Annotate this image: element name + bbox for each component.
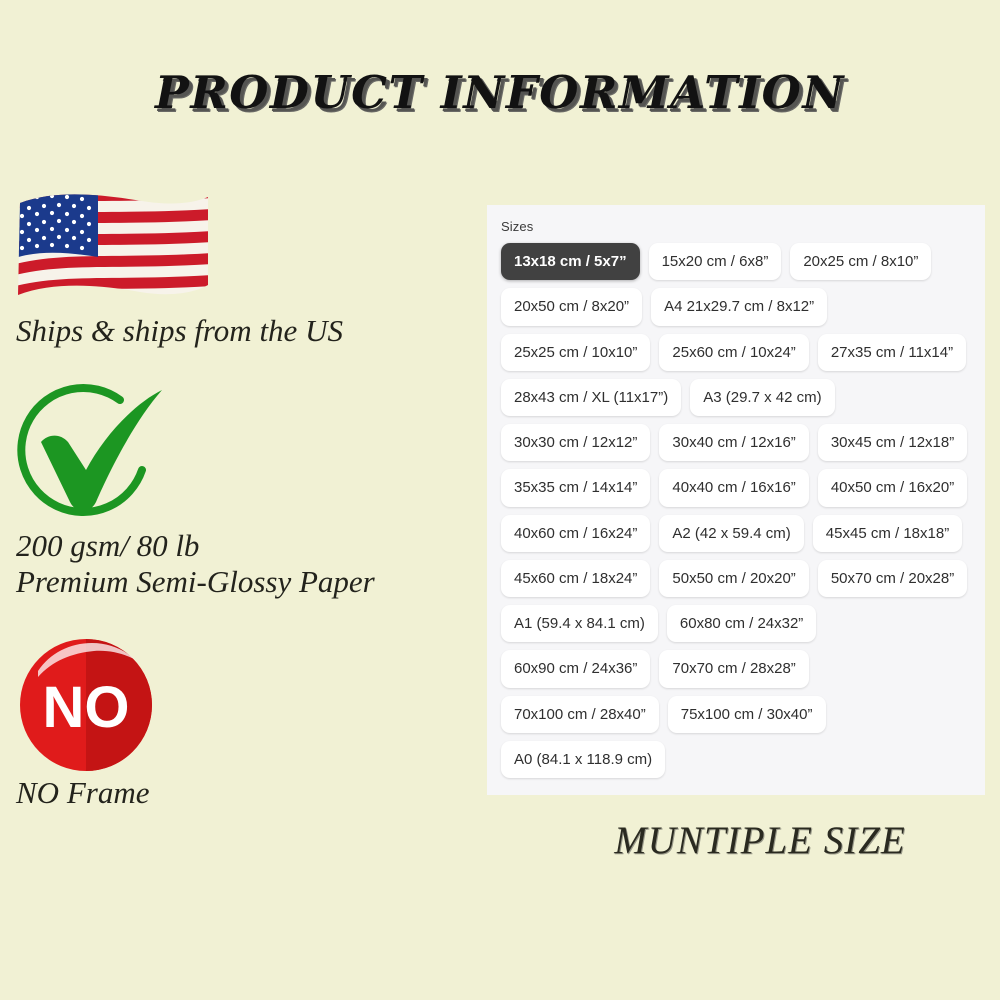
green-check-icon: [0, 378, 180, 528]
size-option-chip[interactable]: 70x70 cm / 28x28”: [659, 650, 808, 687]
us-flag-icon: [0, 185, 214, 313]
size-option-chip[interactable]: 35x35 cm / 14x14”: [501, 469, 650, 506]
size-option-chip[interactable]: 30x40 cm / 12x16”: [659, 424, 808, 461]
size-option-chip[interactable]: 20x50 cm / 8x20”: [501, 288, 642, 325]
size-option-chip[interactable]: 27x35 cm / 11x14”: [818, 334, 966, 371]
size-option-chip[interactable]: A3 (29.7 x 42 cm): [690, 379, 834, 416]
size-option-chip[interactable]: A1 (59.4 x 84.1 cm): [501, 605, 658, 642]
no-badge-text: NO: [43, 675, 130, 740]
size-option-chip[interactable]: 40x40 cm / 16x16”: [659, 469, 808, 506]
size-option-chip[interactable]: 13x18 cm / 5x7”: [501, 243, 640, 280]
feature-caption-paper: 200 gsm/ 80 lb Premium Semi-Glossy Paper: [0, 528, 470, 601]
size-option-chip[interactable]: 75x100 cm / 30x40”: [668, 696, 826, 733]
sizes-label: Sizes: [501, 219, 973, 234]
size-option-chip[interactable]: 25x25 cm / 10x10”: [501, 334, 650, 371]
size-option-chip[interactable]: 30x45 cm / 12x18”: [818, 424, 967, 461]
paper-weight-line: 200 gsm/ 80 lb: [16, 528, 470, 565]
size-option-chip[interactable]: 60x90 cm / 24x36”: [501, 650, 650, 687]
paper-type-line: Premium Semi-Glossy Paper: [16, 564, 470, 601]
size-option-chip[interactable]: 45x45 cm / 18x18”: [813, 515, 962, 552]
size-option-chip[interactable]: 60x80 cm / 24x32”: [667, 605, 816, 642]
size-option-chip[interactable]: 70x100 cm / 28x40”: [501, 696, 659, 733]
size-option-chip[interactable]: 50x70 cm / 20x28”: [818, 560, 967, 597]
size-option-chip[interactable]: A0 (84.1 x 118.9 cm): [501, 741, 665, 778]
size-option-chip[interactable]: 45x60 cm / 18x24”: [501, 560, 650, 597]
size-options-list: 13x18 cm / 5x7”15x20 cm / 6x8”20x25 cm /…: [501, 243, 973, 778]
multiple-size-caption: MUNTIPLE SIZE: [560, 818, 960, 863]
size-option-chip[interactable]: 30x30 cm / 12x12”: [501, 424, 650, 461]
feature-paper-quality: 200 gsm/ 80 lb Premium Semi-Glossy Paper: [0, 378, 470, 601]
no-badge-icon: NO: [0, 635, 160, 775]
size-option-chip[interactable]: 40x60 cm / 16x24”: [501, 515, 650, 552]
features-column: Ships & ships from the US 200 gsm/ 80 lb…: [0, 185, 470, 819]
page-title: PRODUCT INFORMATION: [0, 66, 1000, 119]
feature-no-frame: NO NO Frame: [0, 635, 470, 812]
size-option-chip[interactable]: 28x43 cm / XL (11x17”): [501, 379, 681, 416]
size-option-chip[interactable]: 25x60 cm / 10x24”: [659, 334, 808, 371]
size-option-chip[interactable]: 50x50 cm / 20x20”: [659, 560, 808, 597]
size-option-chip[interactable]: 20x25 cm / 8x10”: [790, 243, 931, 280]
size-option-chip[interactable]: 40x50 cm / 16x20”: [818, 469, 967, 506]
feature-caption-ships: Ships & ships from the US: [0, 313, 470, 350]
sizes-panel: Sizes 13x18 cm / 5x7”15x20 cm / 6x8”20x2…: [487, 205, 985, 795]
size-option-chip[interactable]: 15x20 cm / 6x8”: [649, 243, 782, 280]
size-option-chip[interactable]: A2 (42 x 59.4 cm): [659, 515, 803, 552]
feature-caption-no-frame: NO Frame: [0, 775, 470, 812]
size-option-chip[interactable]: A4 21x29.7 cm / 8x12”: [651, 288, 827, 325]
feature-ships-from-us: Ships & ships from the US: [0, 185, 470, 350]
